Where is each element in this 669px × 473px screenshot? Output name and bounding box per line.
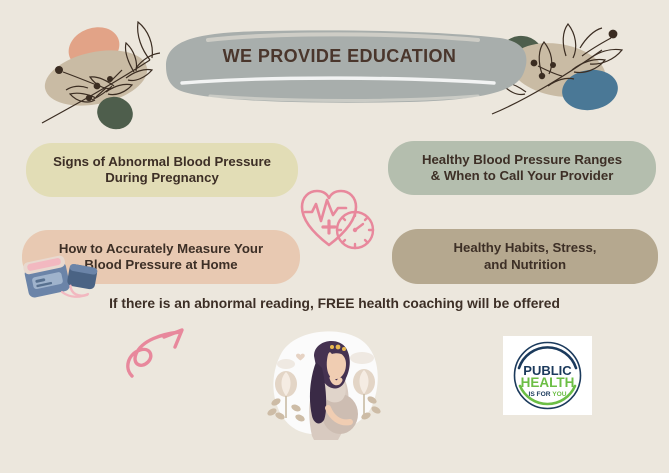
topic-pill-how-to-accurately-measure[interactable]: How to Accurately Measure Your Blood Pre… bbox=[22, 230, 300, 284]
topic-pill-signs-of-abnormal-blood-pressure[interactable]: Signs of Abnormal Blood Pressure During … bbox=[26, 143, 298, 197]
public-health-logo: PUBLIC HEALTH IS FOR YOU bbox=[503, 336, 592, 415]
logo-tagline-part-1: IS FOR bbox=[529, 391, 553, 398]
pregnant-woman-illustration bbox=[252, 322, 392, 446]
heart-ekg-gauge-icon bbox=[296, 183, 382, 253]
topic-line-2: During Pregnancy bbox=[53, 170, 271, 186]
topic-line-2: & When to Call Your Provider bbox=[422, 168, 622, 184]
infographic-canvas: WE PROVIDE EDUCATION Signs of Abnormal B… bbox=[0, 0, 669, 473]
logo-tagline: IS FOR YOU bbox=[529, 391, 567, 398]
topic-line-1: Signs of Abnormal Blood Pressure bbox=[53, 154, 271, 170]
topic-line-2: Blood Pressure at Home bbox=[59, 257, 263, 273]
page-title: WE PROVIDE EDUCATION bbox=[148, 46, 531, 67]
logo-tagline-part-2: YOU bbox=[552, 391, 567, 398]
logo-line-2: HEALTH bbox=[521, 375, 575, 390]
topic-pill-healthy-blood-pressure-ranges[interactable]: Healthy Blood Pressure Ranges & When to … bbox=[388, 141, 656, 195]
topic-line-1: Healthy Blood Pressure Ranges bbox=[422, 152, 622, 168]
topic-line-1: Healthy Habits, Stress, bbox=[454, 240, 597, 256]
topic-line-1: How to Accurately Measure Your bbox=[59, 241, 263, 257]
curved-arrow-icon bbox=[118, 320, 198, 386]
caption-text: If there is an abnormal reading, FREE he… bbox=[0, 296, 669, 311]
topic-pill-healthy-habits-stress-nutrition[interactable]: Healthy Habits, Stress, and Nutrition bbox=[392, 229, 658, 284]
topic-line-2: and Nutrition bbox=[454, 257, 597, 273]
